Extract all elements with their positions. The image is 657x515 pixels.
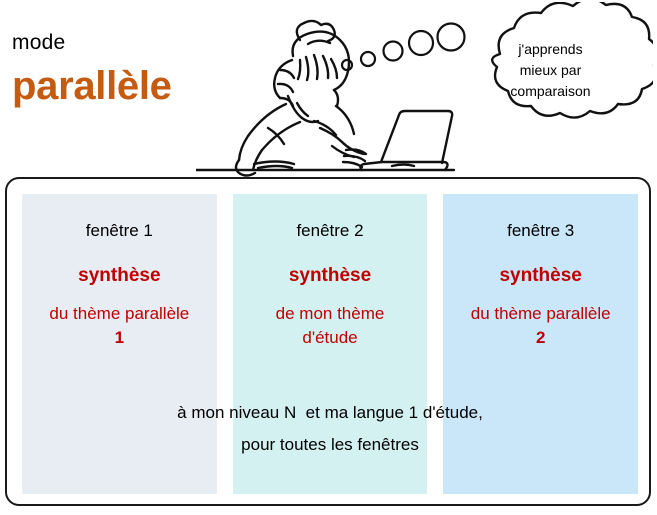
page-title: parallèle xyxy=(12,62,222,110)
window-2-synthesis-label: synthèse xyxy=(233,264,428,288)
window-3-synthesis-label: synthèse xyxy=(443,264,638,288)
window-panel-3-content: fenêtre 3 synthèse du thème parallèle 2 xyxy=(443,194,638,350)
thought-bubble: j'apprends mieux par comparaison xyxy=(448,2,653,134)
window-1-description-line-2: 1 xyxy=(115,328,124,347)
window-1-synthesis-label: synthèse xyxy=(22,264,217,288)
window-3-label: fenêtre 3 xyxy=(443,220,638,242)
window-panel-3[interactable]: fenêtre 3 synthèse du thème parallèle 2 xyxy=(443,194,638,494)
windows-container: fenêtre 1 synthèse du thème parallèle 1 … xyxy=(5,177,651,506)
thought-bubble-line-2: mieux par xyxy=(520,60,581,81)
window-2-description-line-2: d'étude xyxy=(302,328,357,347)
window-panel-1-content: fenêtre 1 synthèse du thème parallèle 1 xyxy=(22,194,217,350)
window-3-description-line-2: 2 xyxy=(536,328,545,347)
window-1-description-line-1: du thème parallèle xyxy=(49,304,189,323)
window-3-description: du thème parallèle 2 xyxy=(443,302,638,350)
window-1-description: du thème parallèle 1 xyxy=(22,302,217,350)
window-1-label: fenêtre 1 xyxy=(22,220,217,242)
header-area: mode parallèle xyxy=(0,0,657,177)
title-block: mode parallèle xyxy=(12,30,222,110)
window-panel-2[interactable]: fenêtre 2 synthèse de mon thème d'étude xyxy=(233,194,428,494)
window-2-description: de mon thème d'étude xyxy=(233,302,428,350)
mode-label: mode xyxy=(12,30,222,56)
thought-bubble-line-1: j'apprends xyxy=(518,39,582,60)
windows-row: fenêtre 1 synthèse du thème parallèle 1 … xyxy=(22,194,638,494)
thought-bubble-text: j'apprends mieux par comparaison xyxy=(448,2,653,134)
window-3-description-line-1: du thème parallèle xyxy=(471,304,611,323)
window-2-description-line-1: de mon thème xyxy=(276,304,385,323)
window-panel-2-content: fenêtre 2 synthèse de mon thème d'étude xyxy=(233,194,428,350)
thought-bubble-line-3: comparaison xyxy=(510,81,590,102)
window-panel-1[interactable]: fenêtre 1 synthèse du thème parallèle 1 xyxy=(22,194,217,494)
window-2-label: fenêtre 2 xyxy=(233,220,428,242)
